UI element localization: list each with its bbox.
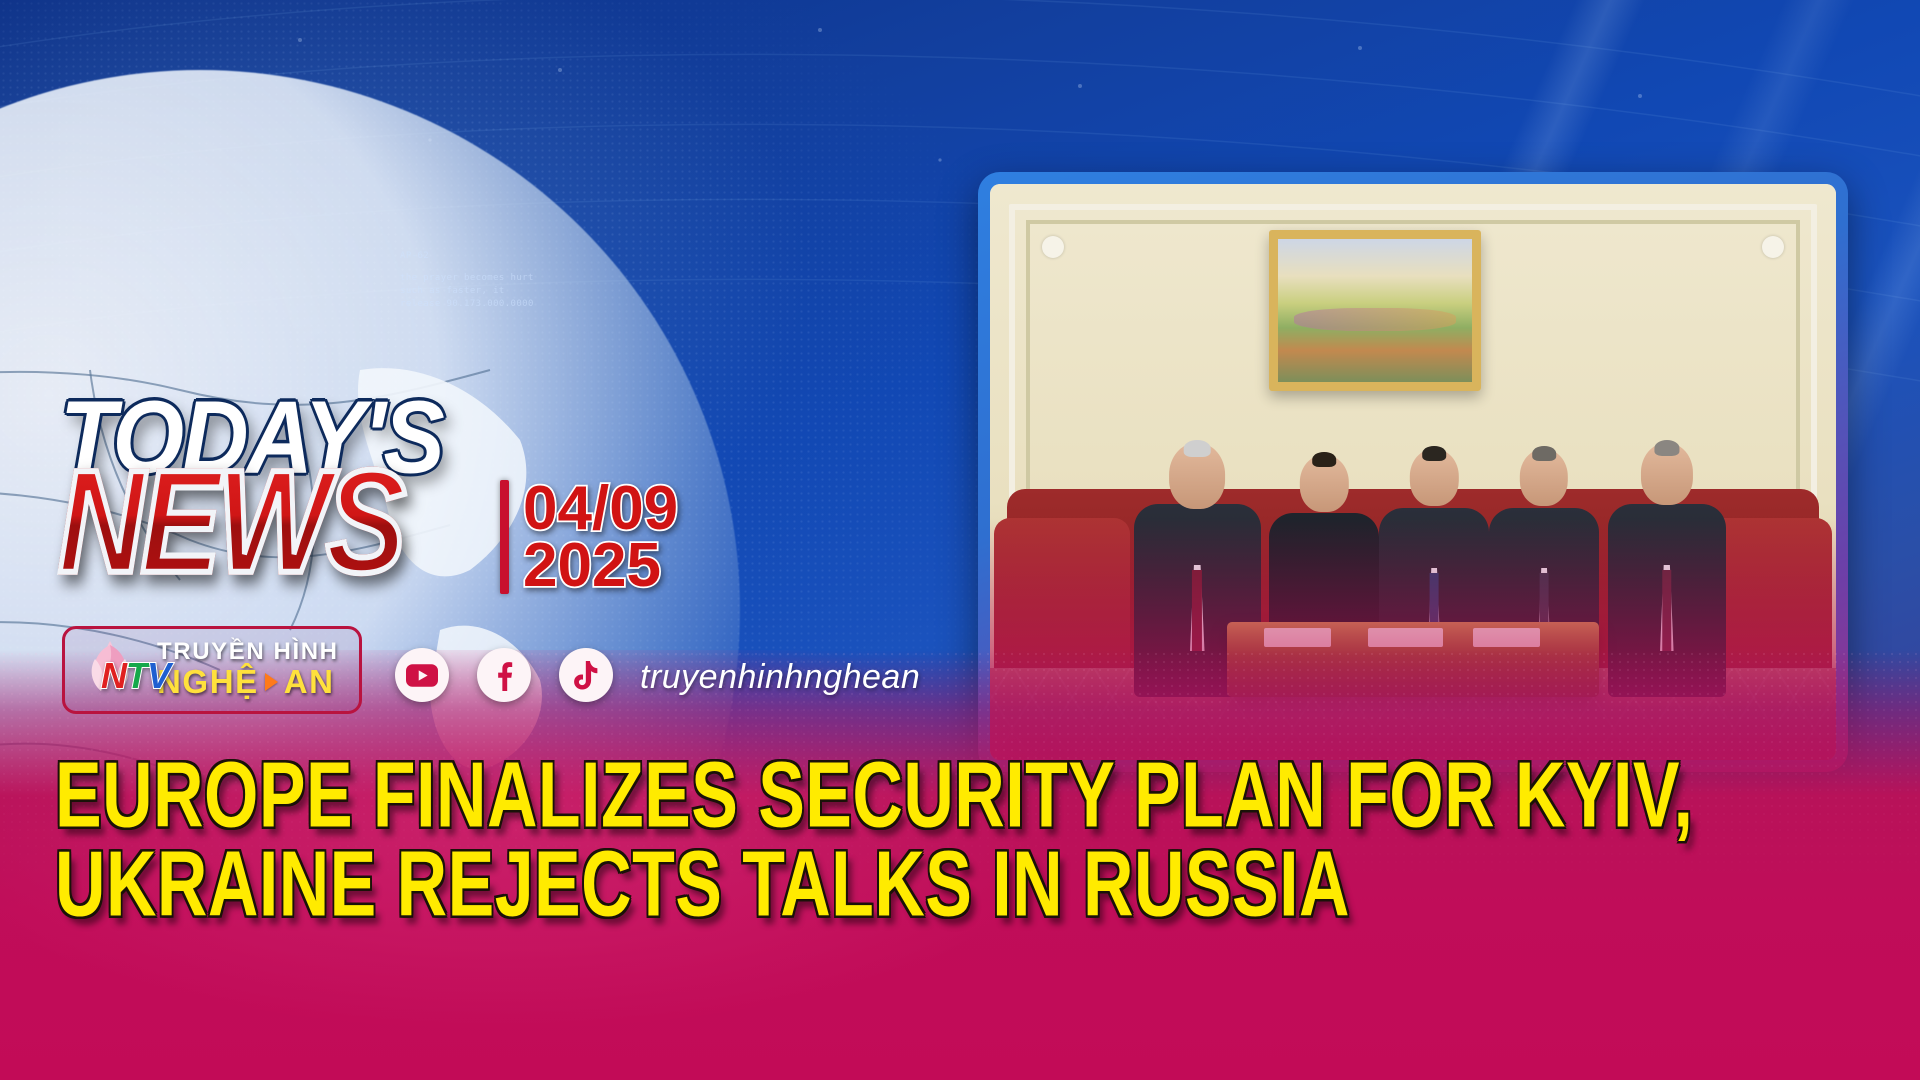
ntv-letter-v: V <box>147 655 170 696</box>
logo-nghe: NGHỆ <box>157 665 259 699</box>
facebook-icon[interactable] <box>477 648 531 702</box>
ticker-text-b: the prayer becomes hurt such as faster, … <box>400 272 550 311</box>
logo-line-nghe-an: NGHỆ AN <box>157 665 339 699</box>
date-divider-rule <box>500 480 509 594</box>
date-day: 04/09 <box>523 480 678 537</box>
ntv-letter-n: N <box>101 655 126 696</box>
brand-title-bottom: NEWS <box>58 438 402 606</box>
headline-line-2: UKRAINE REJECTS TALKS IN RUSSIA <box>55 831 1637 939</box>
ntv-wordmark: NTV <box>101 655 170 697</box>
date-block: 04/09 2025 <box>500 480 678 594</box>
ntv-letter-t: T <box>126 655 147 696</box>
youtube-icon[interactable] <box>395 648 449 702</box>
play-triangle-icon <box>265 673 278 691</box>
social-handle: truyenhinhnghean <box>640 658 920 697</box>
tiktok-icon[interactable] <box>559 648 613 702</box>
lotus-icon: NTV <box>73 633 147 707</box>
news-graphic: AP-62 the prayer becomes hurt such as fa… <box>0 0 1920 1080</box>
social-icons-row <box>395 648 613 702</box>
logo-an: AN <box>284 665 335 699</box>
channel-logo[interactable]: NTV TRUYỀN HÌNH NGHỆ AN <box>62 626 362 714</box>
ticker-text-a: AP-62 <box>400 250 429 263</box>
logo-line-truyen-hinh: TRUYỀN HÌNH <box>157 640 339 665</box>
headline: EUROPE FINALIZES SECURITY PLAN FOR KYIV,… <box>55 752 1775 930</box>
date-year: 2025 <box>523 537 678 594</box>
